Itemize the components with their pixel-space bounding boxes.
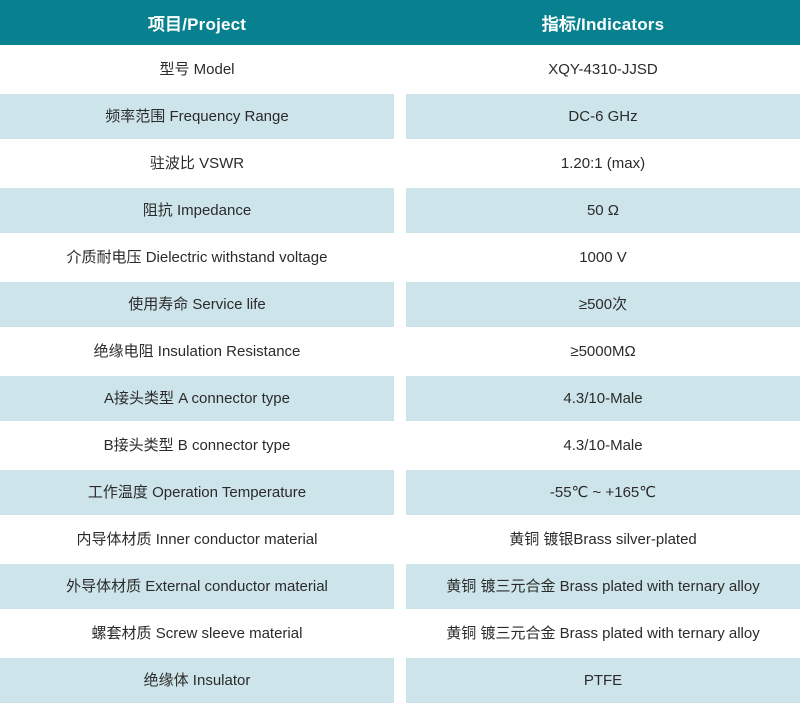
cell-project: 使用寿命 Service life	[0, 282, 394, 327]
table-row: 绝缘电阻 Insulation Resistance≥5000MΩ	[0, 329, 800, 374]
table-body: 型号 ModelXQY-4310-JJSD频率范围 Frequency Rang…	[0, 47, 800, 705]
cell-project: B接头类型 B connector type	[0, 423, 394, 468]
cell-indicator: ≥5000MΩ	[406, 329, 800, 374]
cell-indicator: 1000 V	[406, 235, 800, 280]
cell-project: 工作温度 Operation Temperature	[0, 470, 394, 515]
table-row: 工作温度 Operation Temperature-55℃ ~ +165℃	[0, 470, 800, 515]
column-header-project: 项目/Project	[0, 0, 394, 45]
table-row: 介质耐电压 Dielectric withstand voltage1000 V	[0, 235, 800, 280]
table-row: 内导体材质 Inner conductor material黄铜 镀银Brass…	[0, 517, 800, 562]
column-divider	[394, 188, 406, 233]
cell-indicator: PTFE	[406, 658, 800, 703]
cell-project: 内导体材质 Inner conductor material	[0, 517, 394, 562]
cell-indicator: 4.3/10-Male	[406, 376, 800, 421]
cell-indicator: -55℃ ~ +165℃	[406, 470, 800, 515]
cell-project: 频率范围 Frequency Range	[0, 94, 394, 139]
column-divider	[394, 0, 406, 45]
cell-indicator: 黄铜 镀银Brass silver-plated	[406, 517, 800, 562]
column-divider	[394, 47, 406, 92]
column-divider	[394, 329, 406, 374]
cell-project: 绝缘电阻 Insulation Resistance	[0, 329, 394, 374]
table-row: 使用寿命 Service life≥500次	[0, 282, 800, 327]
column-header-indicators: 指标/Indicators	[406, 0, 800, 45]
column-divider	[394, 423, 406, 468]
table-row: 外导体材质 External conductor material黄铜 镀三元合…	[0, 564, 800, 609]
table-header-row: 项目/Project 指标/Indicators	[0, 0, 800, 45]
column-divider	[394, 376, 406, 421]
cell-indicator: 1.20:1 (max)	[406, 141, 800, 186]
cell-indicator: 4.3/10-Male	[406, 423, 800, 468]
column-divider	[394, 141, 406, 186]
column-divider	[394, 658, 406, 703]
cell-project: 型号 Model	[0, 47, 394, 92]
column-divider	[394, 611, 406, 656]
cell-project: A接头类型 A connector type	[0, 376, 394, 421]
table-row: 频率范围 Frequency RangeDC-6 GHz	[0, 94, 800, 139]
table-row: B接头类型 B connector type4.3/10-Male	[0, 423, 800, 468]
column-divider	[394, 94, 406, 139]
cell-project: 驻波比 VSWR	[0, 141, 394, 186]
table-row: 型号 ModelXQY-4310-JJSD	[0, 47, 800, 92]
column-divider	[394, 235, 406, 280]
cell-project: 外导体材质 External conductor material	[0, 564, 394, 609]
column-divider	[394, 282, 406, 327]
table-row: 螺套材质 Screw sleeve material黄铜 镀三元合金 Brass…	[0, 611, 800, 656]
table-row: 驻波比 VSWR1.20:1 (max)	[0, 141, 800, 186]
table-row: 绝缘体 InsulatorPTFE	[0, 658, 800, 703]
column-divider	[394, 470, 406, 515]
cell-project: 介质耐电压 Dielectric withstand voltage	[0, 235, 394, 280]
column-divider	[394, 517, 406, 562]
cell-project: 螺套材质 Screw sleeve material	[0, 611, 394, 656]
cell-indicator: DC-6 GHz	[406, 94, 800, 139]
cell-indicator: ≥500次	[406, 282, 800, 327]
table-row: 阻抗 Impedance50 Ω	[0, 188, 800, 233]
column-divider	[394, 564, 406, 609]
cell-indicator: XQY-4310-JJSD	[406, 47, 800, 92]
cell-project: 阻抗 Impedance	[0, 188, 394, 233]
cell-indicator: 黄铜 镀三元合金 Brass plated with ternary alloy	[406, 564, 800, 609]
cell-project: 绝缘体 Insulator	[0, 658, 394, 703]
table-row: A接头类型 A connector type4.3/10-Male	[0, 376, 800, 421]
cell-indicator: 黄铜 镀三元合金 Brass plated with ternary alloy	[406, 611, 800, 656]
specification-table: 项目/Project 指标/Indicators 型号 ModelXQY-431…	[0, 0, 800, 705]
cell-indicator: 50 Ω	[406, 188, 800, 233]
